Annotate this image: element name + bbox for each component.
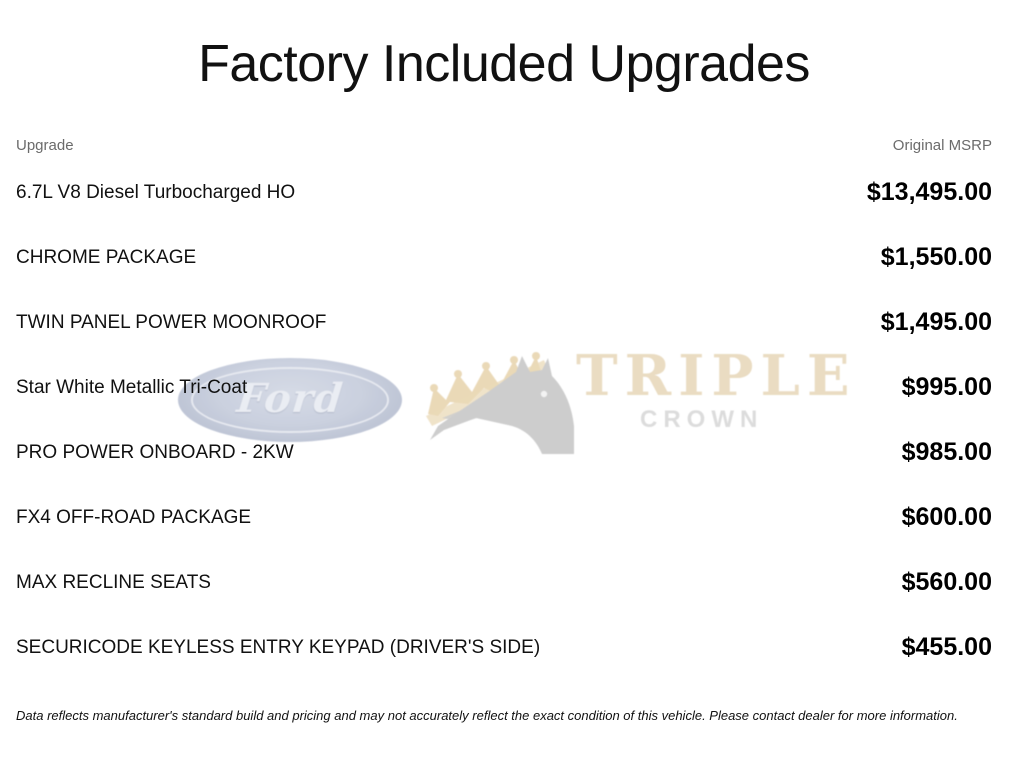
upgrade-name: MAX RECLINE SEATS (16, 550, 660, 615)
upgrade-price: $560.00 (660, 550, 992, 615)
table-header-row: Upgrade Original MSRP (16, 137, 992, 160)
upgrade-price: $455.00 (660, 615, 992, 680)
upgrade-price: $13,495.00 (660, 160, 992, 225)
disclaimer-text: Data reflects manufacturer's standard bu… (16, 708, 1008, 724)
upgrade-price: $1,550.00 (660, 225, 992, 290)
upgrade-price: $600.00 (660, 485, 992, 550)
table-row: PRO POWER ONBOARD - 2KW $985.00 (16, 420, 992, 485)
table-body: 6.7L V8 Diesel Turbocharged HO $13,495.0… (16, 160, 992, 680)
upgrade-name: CHROME PACKAGE (16, 225, 660, 290)
table-row: TWIN PANEL POWER MOONROOF $1,495.00 (16, 290, 992, 355)
column-header-price: Original MSRP (660, 137, 992, 160)
upgrades-table: Upgrade Original MSRP 6.7L V8 Diesel Tur… (16, 137, 992, 680)
table-row: FX4 OFF-ROAD PACKAGE $600.00 (16, 485, 992, 550)
column-header-upgrade: Upgrade (16, 137, 660, 160)
table-row: SECURICODE KEYLESS ENTRY KEYPAD (DRIVER'… (16, 615, 992, 680)
upgrade-name: 6.7L V8 Diesel Turbocharged HO (16, 160, 660, 225)
upgrade-name: TWIN PANEL POWER MOONROOF (16, 290, 660, 355)
upgrade-price: $985.00 (660, 420, 992, 485)
upgrade-name: SECURICODE KEYLESS ENTRY KEYPAD (DRIVER'… (16, 615, 660, 680)
table-row: CHROME PACKAGE $1,550.00 (16, 225, 992, 290)
table-header: Upgrade Original MSRP (16, 137, 992, 160)
table-row: MAX RECLINE SEATS $560.00 (16, 550, 992, 615)
content-area: Factory Included Upgrades Upgrade Origin… (0, 0, 1024, 680)
page-title: Factory Included Upgrades (16, 0, 992, 90)
upgrade-price: $995.00 (660, 355, 992, 420)
table-row: 6.7L V8 Diesel Turbocharged HO $13,495.0… (16, 160, 992, 225)
table-row: Star White Metallic Tri-Coat $995.00 (16, 355, 992, 420)
upgrades-page: Ford (0, 0, 1024, 768)
upgrade-price: $1,495.00 (660, 290, 992, 355)
upgrade-name: Star White Metallic Tri-Coat (16, 355, 660, 420)
upgrade-name: FX4 OFF-ROAD PACKAGE (16, 485, 660, 550)
upgrade-name: PRO POWER ONBOARD - 2KW (16, 420, 660, 485)
